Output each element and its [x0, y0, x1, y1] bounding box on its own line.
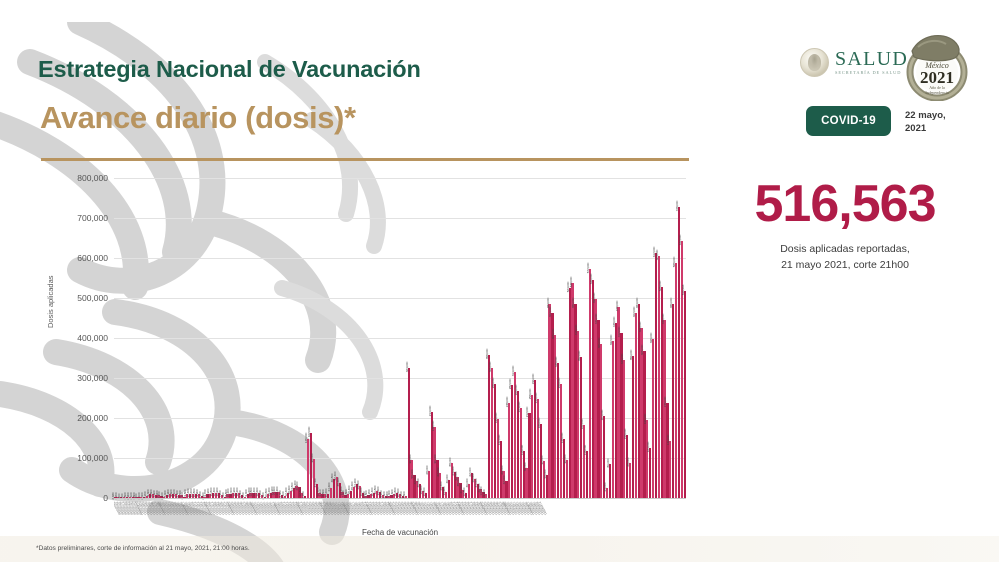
bar-value-label: 516,563: [681, 285, 685, 295]
bar-value-label: 546,000: [589, 273, 593, 283]
bar-value-label: 446,000: [661, 313, 665, 323]
bar-value-label: 12,800: [462, 487, 466, 496]
salud-subtitle: SECRETARÍA DE SALUD: [835, 71, 908, 75]
bar-value-label: 528,000: [658, 281, 662, 291]
bar-value-label: 178,000: [431, 421, 435, 431]
bar-value-label: 24,600: [327, 483, 331, 492]
bar-value-label: 162,000: [307, 427, 311, 437]
footnote: *Datos preliminares, corte de informació…: [36, 545, 250, 552]
y-tick-label: 400,000: [77, 333, 108, 343]
title-divider: [41, 158, 689, 161]
bar-value-label: 214,000: [428, 406, 432, 416]
bar-value-label: 142,000: [497, 435, 501, 445]
salud-wordmark: SALUD: [835, 49, 908, 69]
y-tick-label: 200,000: [77, 413, 108, 423]
bar-value-label: 438,000: [612, 317, 616, 327]
bar-value-label: 58,000: [543, 469, 547, 478]
kpi-caption-line1: Dosis aplicadas reportadas,: [700, 242, 990, 258]
bar-value-label: 238,000: [505, 397, 509, 407]
bar-value-label: 462,000: [548, 307, 552, 317]
bar-value-label: 142,000: [666, 435, 670, 445]
mexico-seal-icon: [800, 48, 829, 77]
kpi-caption-line2: 21 mayo 2021, corte 21h00: [700, 258, 990, 274]
header-date: 22 mayo, 2021: [905, 110, 946, 136]
bar-value-label: 352,000: [577, 351, 581, 361]
bar-value-label: 426,000: [638, 321, 642, 331]
bar-value-label: 88,000: [626, 457, 630, 466]
bar-value-label: 11,400: [422, 488, 426, 497]
bar-value-label: 408,000: [551, 329, 555, 339]
bar-value-label: 258,000: [528, 389, 532, 399]
bar-value-label: 96,000: [563, 454, 567, 463]
header-date-line1: 22 mayo,: [905, 110, 946, 123]
bar-value-label: 314,000: [511, 366, 515, 376]
bar-value-label: 198,000: [494, 413, 498, 423]
bar-value-label: 96,000: [433, 454, 437, 463]
y-axis-title: Dosis aplicadas: [46, 275, 55, 328]
bar-value-label: 538,000: [569, 277, 573, 287]
top-white-strip: [0, 0, 999, 22]
bar-value-label: 224,000: [517, 402, 521, 412]
salud-logo: SALUD SECRETARÍA DE SALUD: [800, 48, 908, 77]
y-tick-label: 500,000: [77, 293, 108, 303]
bar-value-label: 286,000: [491, 377, 495, 387]
y-tick-label: 100,000: [77, 453, 108, 463]
bar-value-label: 196,000: [643, 413, 647, 423]
bar-value-label: 386,000: [597, 337, 601, 347]
bar-value-label: 338,000: [554, 357, 558, 367]
bar-value-label: 148,000: [560, 433, 564, 443]
bar-value-label: 462,000: [632, 307, 636, 317]
bar-value-label: 282,000: [508, 379, 512, 389]
y-tick-label: 800,000: [77, 173, 108, 183]
bar-value-label: 38,600: [336, 477, 340, 486]
bar-value-label: 642,000: [678, 235, 682, 245]
bar-value-label: 96,000: [408, 454, 412, 463]
bar-value-label: 62,000: [436, 468, 440, 477]
bar-value-label: 324,000: [405, 362, 409, 372]
bar-value-label: 356,000: [629, 349, 633, 359]
covid-19-badge[interactable]: COVID-19: [806, 106, 891, 136]
bar-value-label: 486,000: [669, 297, 673, 307]
page-subtitle: Avance diario (dosis)*: [40, 100, 356, 136]
bar-value-label: 158,000: [623, 429, 627, 439]
bar-value-label: 728,000: [675, 201, 679, 211]
page-title: Estrategia Nacional de Vacunación: [38, 56, 421, 83]
bar-value-label: 14,600: [442, 487, 446, 496]
bar-value-label: 118,000: [583, 445, 587, 455]
bar-value-label: 498,000: [592, 293, 596, 303]
bar-value-label: 36,000: [465, 478, 469, 487]
slide-root: Estrategia Nacional de Vacunación Avance…: [0, 0, 999, 562]
bar-value-label: 418,000: [574, 325, 578, 335]
bar-value-label: 92,000: [540, 456, 544, 465]
bar-value-label: 486,000: [571, 297, 575, 307]
y-tick-label: 300,000: [77, 373, 108, 383]
bar-value-label: 296,000: [531, 373, 535, 383]
bar-value-label: 248,000: [534, 393, 538, 403]
bar-value-label: 484,000: [635, 298, 639, 308]
bar-value-label: 588,000: [672, 257, 676, 267]
bar-value-label: 572,000: [586, 263, 590, 273]
bar-value-label: 24,000: [603, 483, 607, 492]
bar-value-label: 286,000: [557, 377, 561, 387]
bar-value-label: 392,000: [609, 335, 613, 345]
bar-value-label: 446,000: [594, 313, 598, 323]
y-axis-ticks: 0100,000200,000300,000400,000500,000600,…: [58, 178, 112, 498]
y-tick-label: 0: [103, 493, 108, 503]
bar[interactable]: [684, 291, 686, 498]
bar-value-label: 368,000: [640, 345, 644, 355]
plot-area: 2,6801,2009007001,5002,9003,1001,8009001…: [114, 178, 686, 498]
mexico-2021-emblem: México 2021 Año de la Independencia: [902, 29, 972, 101]
bar-value-label: 98,000: [310, 453, 314, 462]
bar-value-label: 478,000: [615, 301, 619, 311]
bar-value-label: 68,000: [425, 465, 429, 474]
kpi-block: 516,563 Dosis aplicadas reportadas, 21 m…: [700, 178, 990, 274]
bar-value-label: 358,000: [485, 349, 489, 359]
kpi-value: 516,563: [700, 178, 990, 230]
bar-value-label: 398,000: [649, 333, 653, 343]
svg-text:Independencia: Independencia: [925, 90, 949, 95]
bar-value-label: 212,000: [525, 407, 529, 417]
bar-value-label: 68,000: [500, 465, 504, 474]
bar-value-label: 118,000: [520, 445, 524, 455]
y-tick-label: 700,000: [77, 213, 108, 223]
bar-value-label: 204,000: [600, 410, 604, 420]
kpi-caption: Dosis aplicadas reportadas, 21 mayo 2021…: [700, 242, 990, 274]
bar-value-label: 42,000: [502, 476, 506, 485]
bar-value-label: 182,000: [580, 419, 584, 429]
bar-value-label: 88,000: [448, 457, 452, 466]
bar-value-label: 76,000: [523, 462, 527, 471]
header-date-line2: 2021: [905, 123, 946, 136]
bar-column[interactable]: 516,563: [683, 178, 686, 498]
daily-doses-bar-chart: Dosis aplicadas 0100,000200,000300,00040…: [48, 178, 698, 528]
y-tick-label: 600,000: [77, 253, 108, 263]
bar-value-label: 124,000: [646, 442, 650, 452]
bar-value-label: 326,000: [488, 361, 492, 371]
bar-value-label: 268,000: [514, 385, 518, 395]
bar-value-label: 604,000: [655, 250, 659, 260]
bar-value-label: 186,000: [537, 417, 541, 427]
bar-series: 2,6801,2009007001,5002,9003,1001,8009001…: [114, 178, 686, 498]
bar-value-label: 346,000: [620, 353, 624, 363]
bar-value-label: 86,000: [606, 458, 610, 467]
bar-value-label: 238,000: [663, 397, 667, 407]
bar-value-label: 9,200: [482, 490, 486, 497]
x-axis-line: [114, 498, 686, 499]
bar-value-label: 46,000: [445, 474, 449, 483]
bar-value-label: 412,000: [617, 327, 621, 337]
